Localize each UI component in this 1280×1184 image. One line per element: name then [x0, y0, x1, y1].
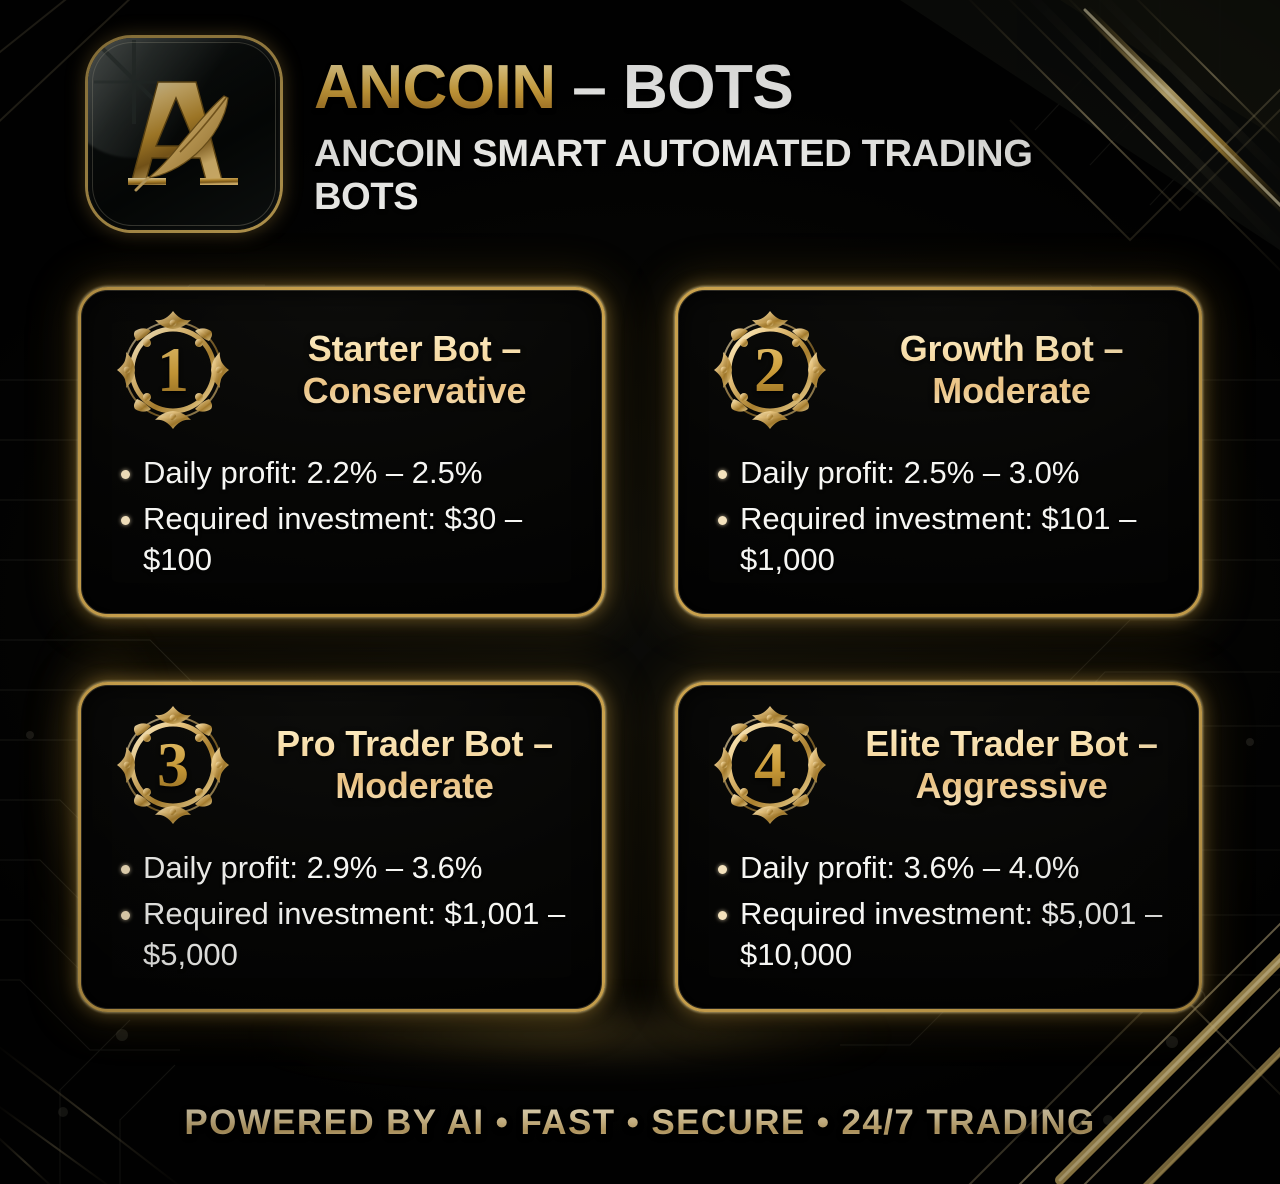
list-item: Daily profit: 2.5% – 3.0%: [712, 453, 1175, 493]
card-header: 3 Pro Trader Bot – Moderate: [81, 685, 602, 845]
card-header: 2 Growth Bot – Moderate: [678, 290, 1199, 450]
card-header: 4 Elite Trader Bot – Aggressive: [678, 685, 1199, 845]
list-item: Daily profit: 3.6% – 4.0%: [712, 848, 1175, 888]
card-number: 3: [101, 690, 245, 840]
card-bullet-list: Daily profit: 2.2% – 2.5% Required inves…: [115, 453, 578, 586]
card-title: Pro Trader Bot – Moderate: [245, 723, 602, 808]
bot-plan-card-growth[interactable]: 2 Growth Bot – Moderate Daily profit: 2.…: [675, 287, 1202, 617]
card-header: 1 Starter Bot – Conservative: [81, 290, 602, 450]
page-title: ANCOIN – BOTS: [314, 56, 1214, 119]
bot-plan-grid: 1 Starter Bot – Conservative Daily profi…: [78, 287, 1202, 1017]
card-bullet-list: Daily profit: 2.5% – 3.0% Required inves…: [712, 453, 1175, 586]
title-block: ANCOIN – BOTS ANCOIN SMART AUTOMATED TRA…: [314, 56, 1214, 219]
card-bullet-list: Daily profit: 2.9% – 3.6% Required inves…: [115, 848, 578, 981]
bot-plan-card-elite-trader[interactable]: 4 Elite Trader Bot – Aggressive Daily pr…: [675, 682, 1202, 1012]
ornate-medallion-frame-icon: 3: [101, 690, 245, 840]
card-title: Starter Bot – Conservative: [245, 328, 602, 413]
card-number: 2: [698, 295, 842, 445]
page-title-suffix: – BOTS: [556, 53, 794, 122]
card-number: 4: [698, 690, 842, 840]
list-item: Daily profit: 2.9% – 3.6%: [115, 848, 578, 888]
list-item: Required investment: $5,001 – $10,000: [712, 894, 1175, 975]
ornate-medallion-frame-icon: 4: [698, 690, 842, 840]
ornate-medallion-frame-icon: 1: [101, 295, 245, 445]
bot-plan-card-pro-trader[interactable]: 3 Pro Trader Bot – Moderate Daily profit…: [78, 682, 605, 1012]
card-bullet-list: Daily profit: 3.6% – 4.0% Required inves…: [712, 848, 1175, 981]
page-subtitle: ANCOIN SMART AUTOMATED TRADING BOTS: [314, 133, 1054, 219]
card-number: 1: [101, 295, 245, 445]
header: ANCOIN – BOTS ANCOIN SMART AUTOMATED TRA…: [0, 0, 1280, 280]
list-item: Required investment: $101 – $1,000: [712, 499, 1175, 580]
ornate-medallion-frame-icon: 2: [698, 295, 842, 445]
poster-canvas: ANCOIN – BOTS ANCOIN SMART AUTOMATED TRA…: [0, 0, 1280, 1184]
quill-a-icon: [88, 38, 280, 230]
list-item: Required investment: $30 – $100: [115, 499, 578, 580]
ancoin-logo[interactable]: [88, 38, 280, 230]
page-title-brand: ANCOIN: [314, 53, 556, 122]
list-item: Daily profit: 2.2% – 2.5%: [115, 453, 578, 493]
card-title: Growth Bot – Moderate: [842, 328, 1199, 413]
footer: POWERED BY AI • FAST • SECURE • 24/7 TRA…: [0, 1103, 1280, 1143]
list-item: Required investment: $1,001 – $5,000: [115, 894, 578, 975]
bot-plan-card-starter[interactable]: 1 Starter Bot – Conservative Daily profi…: [78, 287, 605, 617]
card-title: Elite Trader Bot – Aggressive: [842, 723, 1199, 808]
footer-features-text: POWERED BY AI • FAST • SECURE • 24/7 TRA…: [184, 1103, 1095, 1143]
